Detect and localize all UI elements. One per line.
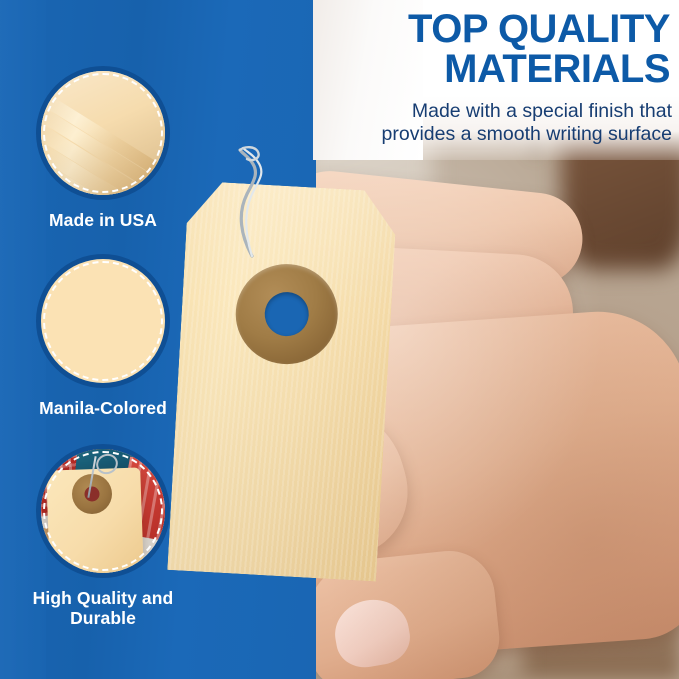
wire-fastener-icon: [231, 144, 277, 264]
infographic-canvas: TOP QUALITY MATERIALS Made with a specia…: [0, 0, 679, 679]
feature-label: High Quality and Durable: [0, 589, 206, 628]
feature-high-quality-durable: High Quality and Durable: [0, 444, 206, 628]
feature-label-line-1: High Quality and: [33, 588, 174, 608]
feature-made-in-usa: Made in USA: [0, 66, 206, 231]
dashed-border: [43, 73, 163, 193]
dashed-border: [43, 261, 163, 381]
feature-manila-colored: Manila-Colored: [0, 254, 206, 419]
feature-label-line-2: Durable: [70, 608, 136, 628]
subtitle-line-2: provides a smooth writing surface: [316, 123, 672, 146]
feature-label: Manila-Colored: [0, 399, 206, 419]
page-subtitle: Made with a special finish that provides…: [316, 100, 672, 145]
photo-background-strip: [463, 419, 523, 679]
photo-background-strip: [377, 419, 437, 679]
feature-icon-circle: [36, 444, 170, 578]
title-line-2: MATERIALS: [330, 50, 670, 90]
feature-icon-circle: [36, 66, 170, 200]
title-line-1: TOP QUALITY: [408, 7, 670, 51]
subtitle-line-1: Made with a special finish that: [412, 100, 672, 122]
dashed-border: [43, 451, 163, 571]
page-title: TOP QUALITY MATERIALS: [330, 10, 670, 89]
feature-label: Made in USA: [0, 211, 206, 231]
feature-icon-circle: [36, 254, 170, 388]
